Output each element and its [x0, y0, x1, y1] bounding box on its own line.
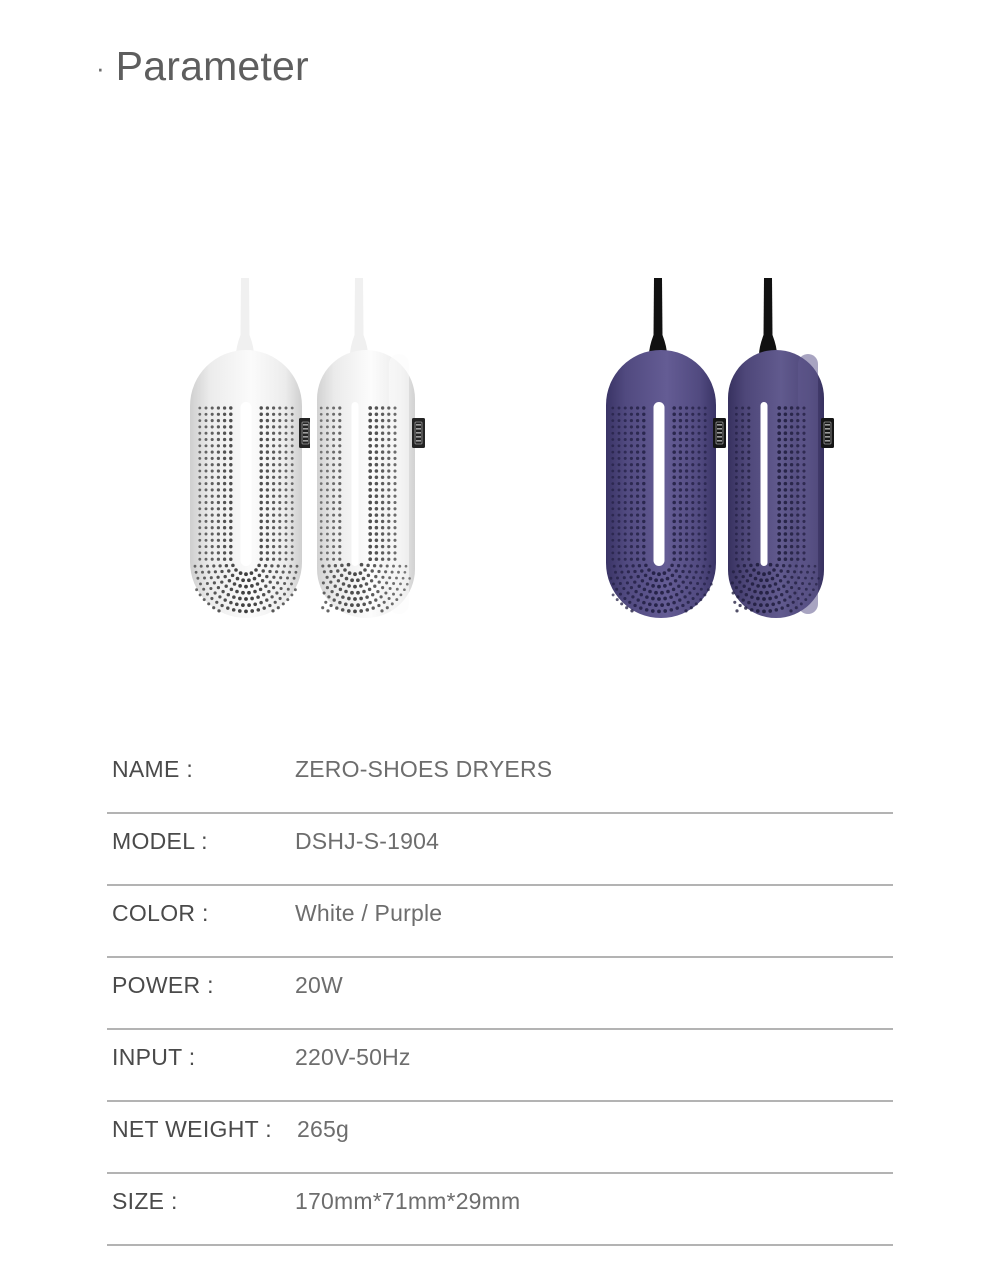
table-row: MODEL : DSHJ-S-1904: [107, 814, 893, 886]
spec-value: ZERO-SHOES DRYERS: [295, 756, 552, 783]
spec-label: COLOR :: [112, 900, 209, 927]
page-title-text: Parameter: [116, 46, 309, 87]
spec-value: White / Purple: [295, 900, 442, 927]
spec-value: DSHJ-S-1904: [295, 828, 439, 855]
table-row: SIZE : 170mm*71mm*29mm: [107, 1174, 893, 1246]
specification-table: NAME : ZERO-SHOES DRYERS MODEL : DSHJ-S-…: [107, 742, 893, 1246]
product-image-purple: [590, 250, 830, 650]
spec-value: 220V-50Hz: [295, 1044, 411, 1071]
spec-value: 265g: [297, 1116, 349, 1143]
spec-label: SIZE :: [112, 1188, 178, 1215]
spec-value: 170mm*71mm*29mm: [295, 1188, 520, 1215]
table-row: INPUT : 220V-50Hz: [107, 1030, 893, 1102]
title-bullet-icon: ·: [96, 55, 105, 81]
white-dryer-angled-view: [303, 250, 433, 650]
product-image-white: [170, 250, 420, 650]
spec-value: 20W: [295, 972, 343, 999]
table-row: NAME : ZERO-SHOES DRYERS: [107, 742, 893, 814]
spec-label: INPUT :: [112, 1044, 195, 1071]
spec-label: NAME :: [112, 756, 193, 783]
purple-dryer-angled-view: [714, 250, 844, 650]
purple-dryer-front-view: [596, 250, 726, 650]
table-row: COLOR : White / Purple: [107, 886, 893, 958]
spec-label: MODEL :: [112, 828, 208, 855]
table-row: NET WEIGHT : 265g: [107, 1102, 893, 1174]
spec-label: POWER :: [112, 972, 214, 999]
spec-label: NET WEIGHT :: [112, 1116, 272, 1143]
product-showcase: [0, 250, 1000, 650]
page-title: · Parameter: [96, 46, 309, 87]
white-dryer-front-view: [180, 250, 310, 650]
table-row: POWER : 20W: [107, 958, 893, 1030]
